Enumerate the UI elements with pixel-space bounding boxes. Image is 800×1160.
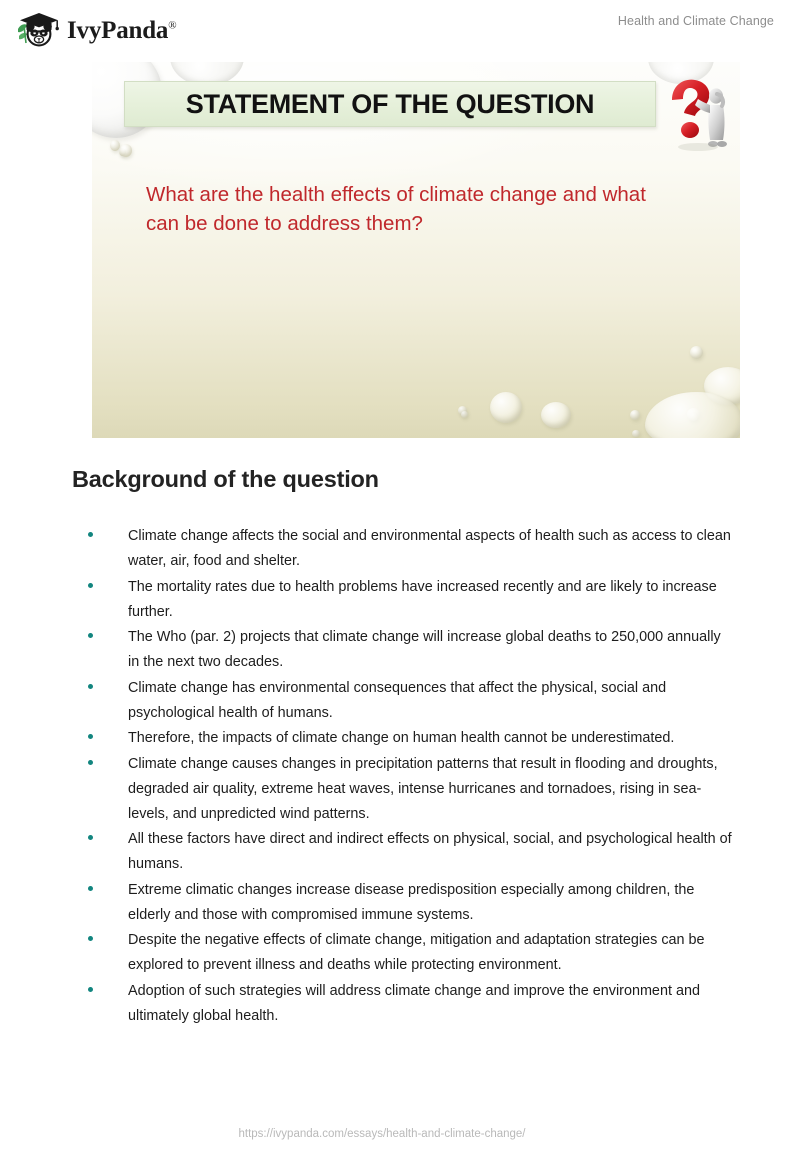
decorative-droplet	[632, 430, 640, 437]
red-question-mark-with-figure-icon	[664, 74, 738, 152]
list-item-text: Adoption of such strategies will address…	[128, 983, 700, 1024]
list-item-text: Climate change affects the social and en…	[128, 528, 731, 569]
list-item: Extreme climatic changes increase diseas…	[84, 878, 732, 928]
panda-graduate-icon	[14, 9, 60, 51]
page-header: IvyPanda® Health and Climate Change	[0, 0, 800, 56]
footer-source-url[interactable]: https://ivypanda.com/essays/health-and-c…	[0, 1128, 800, 1140]
list-item: Climate change affects the social and en…	[84, 524, 732, 574]
list-item: Therefore, the impacts of climate change…	[84, 726, 732, 751]
list-item-text: All these factors have direct and indire…	[128, 831, 732, 872]
ivypanda-logo[interactable]: IvyPanda®	[14, 9, 176, 51]
decorative-droplet	[541, 402, 571, 428]
slide-title-banner: STATEMENT OF THE QUESTION	[124, 81, 656, 127]
list-item-text: Despite the negative effects of climate …	[128, 932, 705, 973]
bullet-dot-icon	[88, 684, 93, 689]
list-item: Despite the negative effects of climate …	[84, 928, 732, 978]
list-item-text: The mortality rates due to health proble…	[128, 579, 717, 620]
bullet-dot-icon	[88, 633, 93, 638]
bullet-dot-icon	[88, 583, 93, 588]
logo-wordmark: IvyPanda®	[67, 18, 176, 43]
decorative-droplet	[461, 411, 468, 418]
slide-image: STATEMENT OF THE QUESTION	[92, 62, 740, 438]
bullet-dot-icon	[88, 734, 93, 739]
list-item: Adoption of such strategies will address…	[84, 979, 732, 1029]
list-item-text: Therefore, the impacts of climate change…	[128, 730, 674, 746]
bullet-dot-icon	[88, 532, 93, 537]
decorative-droplet	[630, 410, 640, 420]
document-title: Health and Climate Change	[618, 14, 774, 28]
list-item-text: Climate change has environmental consequ…	[128, 680, 666, 721]
list-item: Climate change has environmental consequ…	[84, 676, 732, 726]
bullet-dot-icon	[88, 886, 93, 891]
list-item: The Who (par. 2) projects that climate c…	[84, 625, 732, 675]
list-item-text: Climate change causes changes in precipi…	[128, 756, 718, 822]
slide-banner-title: STATEMENT OF THE QUESTION	[186, 89, 595, 120]
page-title: Background of the question	[72, 466, 379, 493]
background-bullet-list: Climate change affects the social and en…	[84, 524, 732, 1029]
logo-label: IvyPanda	[67, 17, 168, 44]
list-item-text: Extreme climatic changes increase diseas…	[128, 882, 694, 923]
bullet-dot-icon	[88, 835, 93, 840]
decorative-droplet	[120, 144, 132, 157]
list-item: The mortality rates due to health proble…	[84, 575, 732, 625]
bullet-dot-icon	[88, 760, 93, 765]
registered-mark: ®	[168, 19, 176, 31]
bullet-dot-icon	[88, 987, 93, 992]
decorative-droplet	[490, 392, 522, 423]
decorative-droplet	[690, 346, 703, 359]
list-item: All these factors have direct and indire…	[84, 827, 732, 877]
list-item: Climate change causes changes in precipi…	[84, 752, 732, 827]
list-item-text: The Who (par. 2) projects that climate c…	[128, 629, 721, 670]
document-page: IvyPanda® Health and Climate Change STAT…	[0, 0, 800, 1160]
slide-question-text: What are the health effects of climate c…	[146, 180, 666, 239]
bullet-dot-icon	[88, 936, 93, 941]
